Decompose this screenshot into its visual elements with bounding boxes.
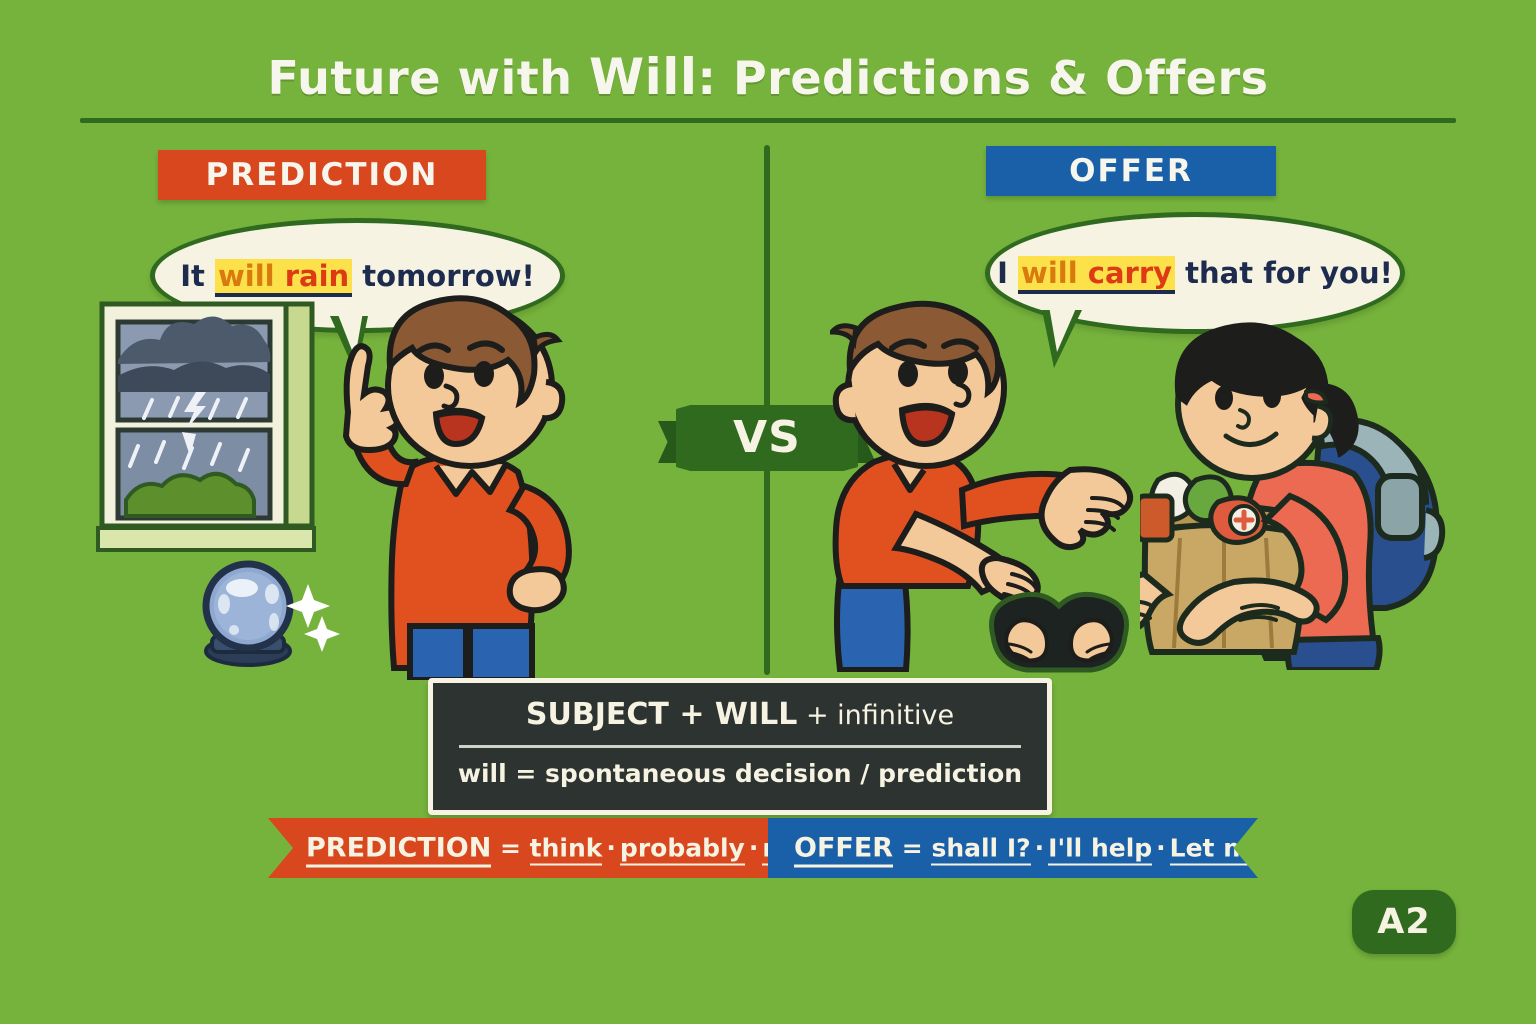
helping-hands-icon [975,578,1143,679]
prediction-separator-1: · [745,834,763,863]
offer-keyword-1: I'll help [1048,834,1152,866]
title-divider-rule [80,118,1456,123]
offer-keywords-banner: OFFER = shall I?·I'll help·Let me [768,818,1258,878]
formula-line-1: SUBJECT + WILL + infinitive [433,697,1047,732]
offer-separator-0: · [1031,834,1049,863]
formula-structure-light: + infinitive [797,700,954,731]
boy-pointing-illustration [318,290,630,685]
title-text-part1: Future with [267,51,589,105]
title-text-part2: : Predictions & Offers [698,51,1269,105]
offer-separator-1: · [1152,834,1170,863]
level-badge: A2 [1352,890,1456,954]
offer-label-chip: OFFER [986,146,1276,196]
prediction-text-before: It [180,259,215,293]
offer-keywords-text: OFFER = shall I?·I'll help·Let me [794,833,1266,864]
formula-structure-bold: SUBJECT + WILL [526,697,797,732]
formula-line-2: will = spontaneous decision / prediction [433,759,1047,788]
offer-word-verb: carry [1088,256,1172,290]
prediction-word-will: will [218,259,275,293]
offer-sentence: I will carry that for you! [990,256,1400,290]
prediction-sentence: It will rain tomorrow! [155,259,560,293]
prediction-text-after: tomorrow! [352,259,535,293]
offer-highlight: will carry [1018,256,1175,294]
girl-with-bag-illustration [1140,320,1470,675]
page-title: Future with Will: Predictions & Offers [0,48,1536,106]
offer-text-before: I [997,256,1018,290]
title-text-strong: Will [589,48,698,106]
prediction-keywords-banner: PREDICTION = think·probably·maybe [268,818,768,878]
offer-text-after: that for you! [1175,256,1393,290]
prediction-keyword-1: probably [620,834,745,866]
offer-word-will: will [1021,256,1078,290]
rainy-window-illustration [96,300,328,567]
prediction-keyword-0: think [530,834,603,866]
offer-banner-key: OFFER [794,833,893,868]
offer-keyword-0: shall I? [931,834,1030,866]
offer-keyword-2: Let me [1170,834,1267,866]
prediction-label-chip: PREDICTION [158,150,486,200]
prediction-separator-0: · [602,834,620,863]
prediction-banner-equals: = [491,834,529,863]
formula-box: SUBJECT + WILL + infinitive will = spont… [428,678,1052,815]
offer-banner-equals: = [893,834,931,863]
infographic-canvas: Future with Will: Predictions & Offers P… [0,0,1536,1024]
prediction-word-verb: rain [285,259,349,293]
prediction-banner-key: PREDICTION [306,833,491,868]
formula-separator [459,745,1021,748]
